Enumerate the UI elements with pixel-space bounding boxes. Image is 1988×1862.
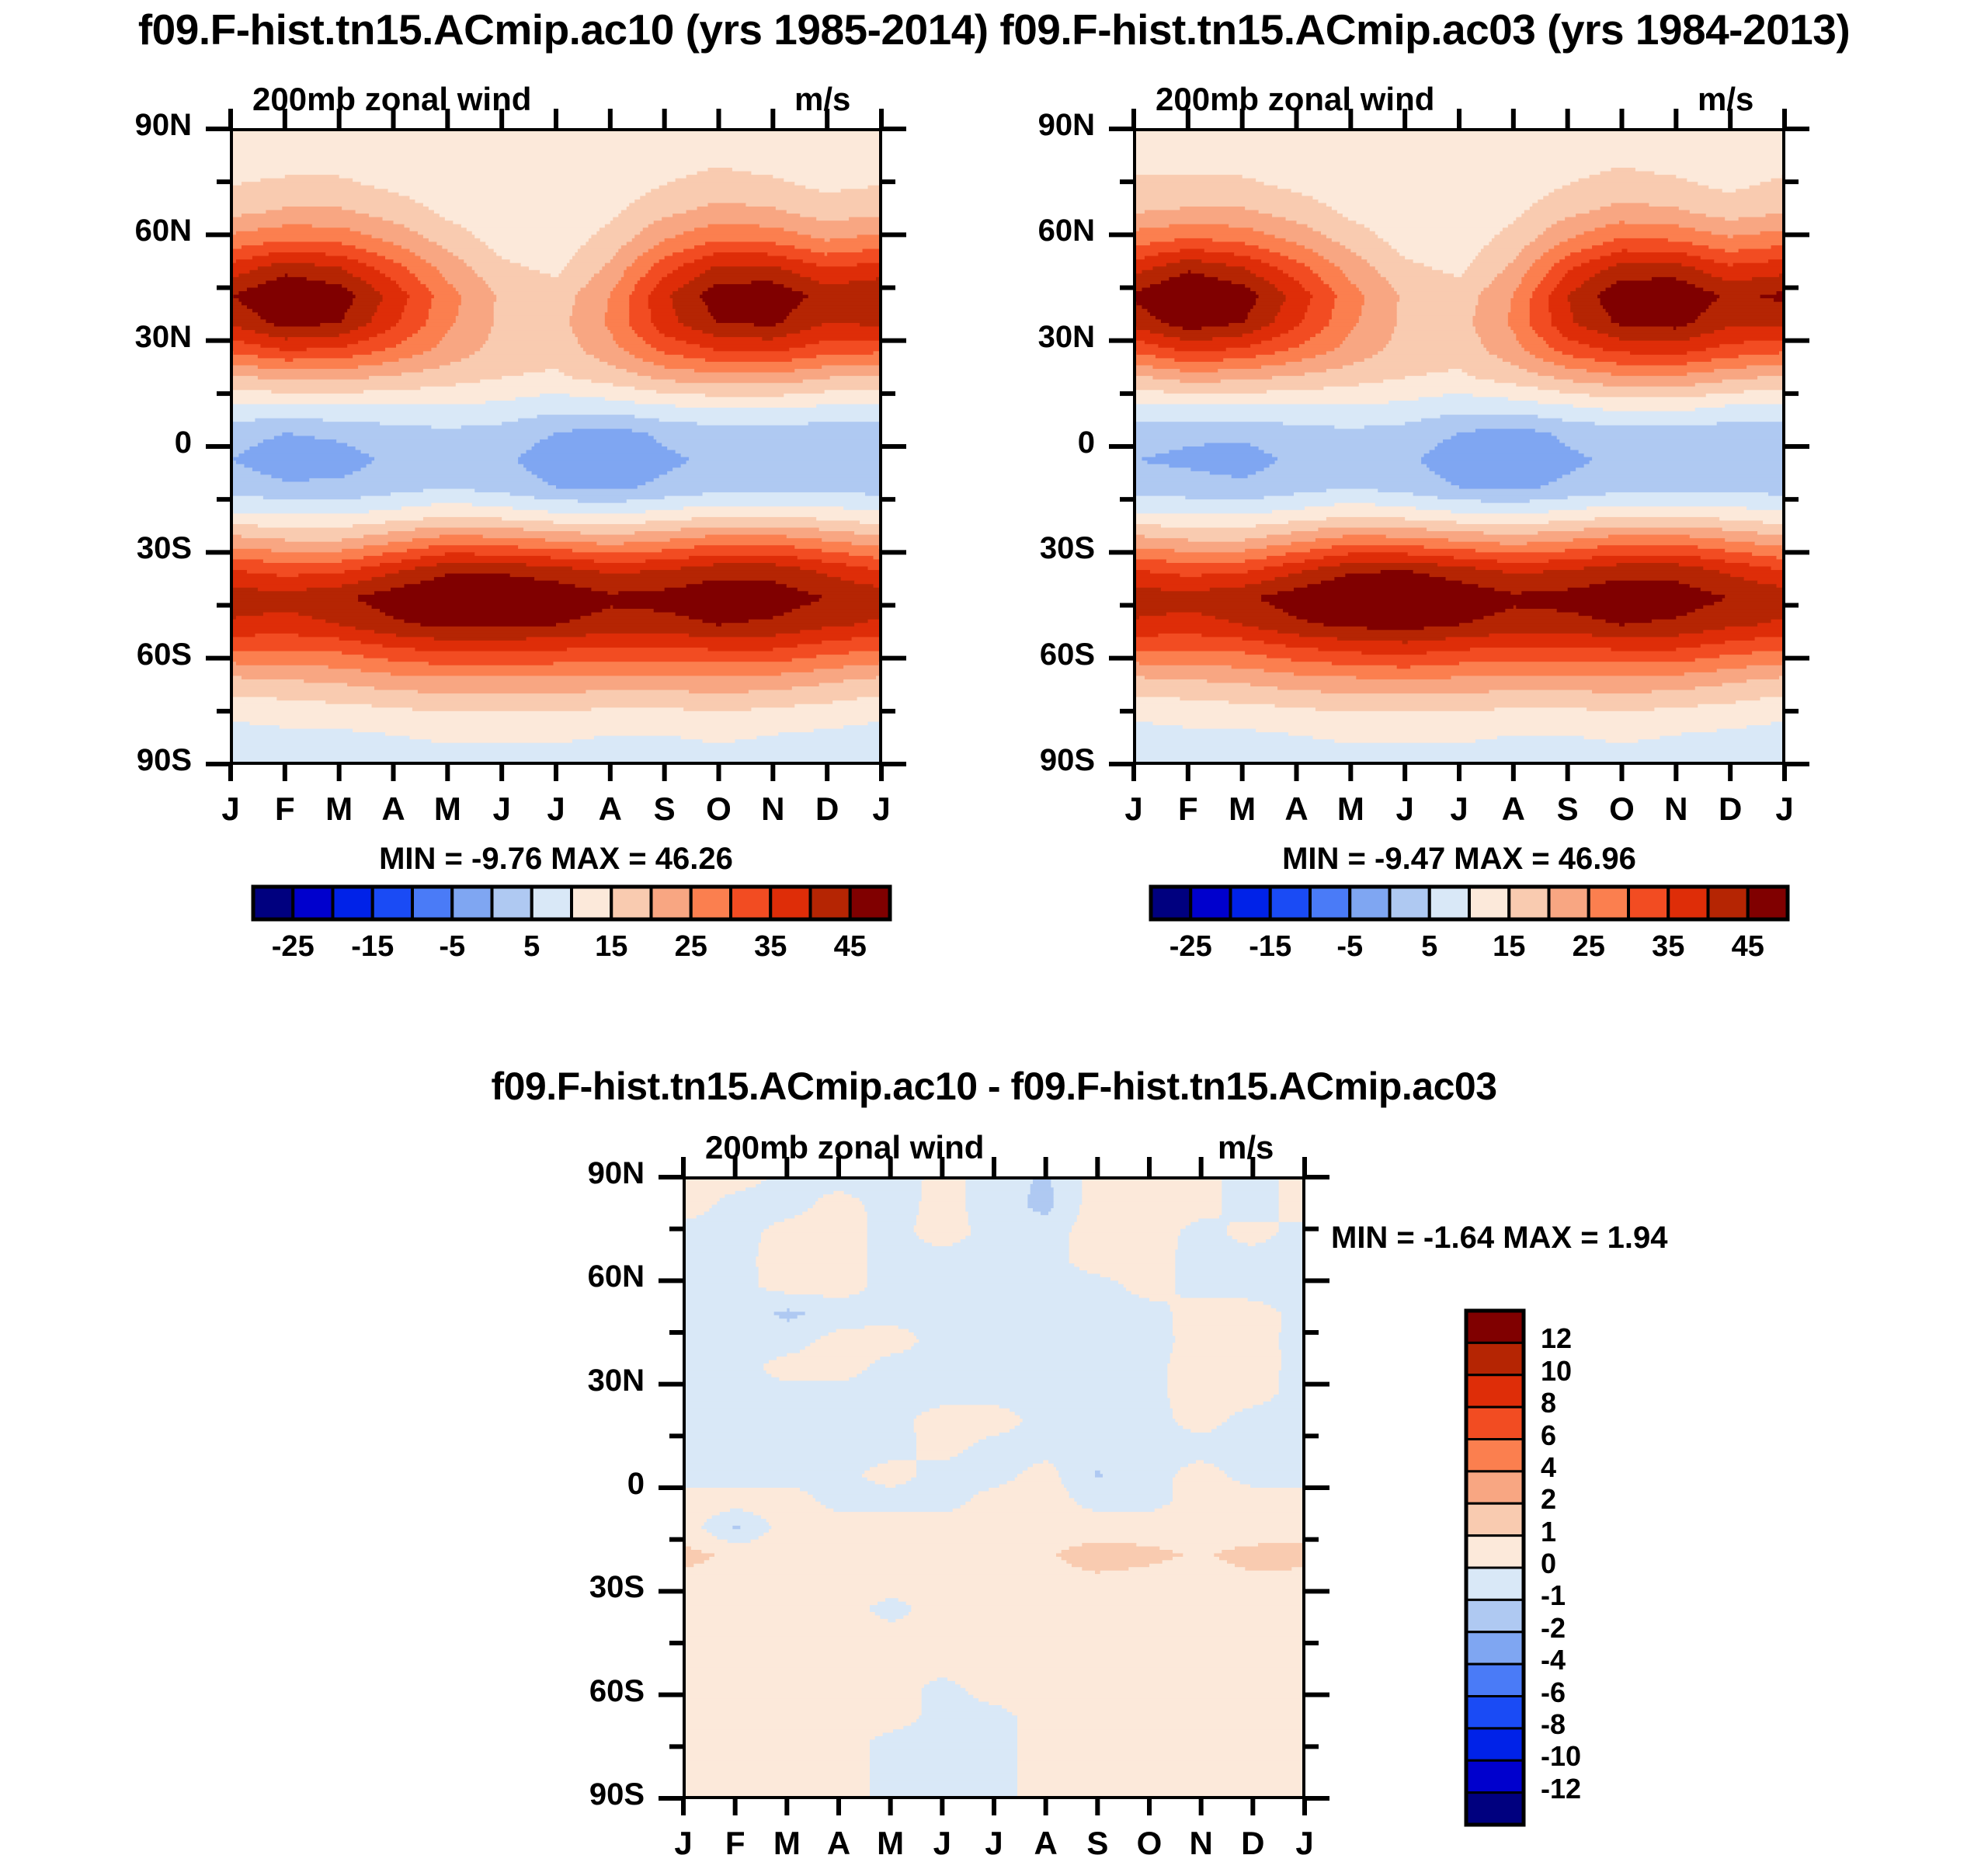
x-axis-tick-label: M [867,1825,914,1862]
colorbar-tick-label: 4 [1541,1451,1556,1484]
y-axis-tick-label: 30S [528,1570,645,1605]
colorbar-tick-label: -6 [1541,1676,1566,1709]
y-axis-tick-label: 90N [528,1156,645,1191]
colorbar-tick-label: -1 [1541,1579,1566,1612]
x-axis-tick-label: J [971,1825,1017,1862]
x-axis-tick-label: J [919,1825,965,1862]
x-axis-tick-label: J [660,1825,707,1862]
colorbar-tick-label: 12 [1541,1322,1572,1355]
x-axis-tick-label: A [1023,1825,1069,1862]
colorbar-tick-label: -12 [1541,1773,1581,1805]
y-axis-tick-label: 60S [528,1674,645,1709]
x-axis-tick-label: D [1229,1825,1276,1862]
colorbar-tick-label: -4 [1541,1644,1566,1676]
x-axis-tick-label: S [1074,1825,1121,1862]
x-axis-tick-label: M [763,1825,810,1862]
colorbar-tick-label: -8 [1541,1708,1566,1741]
y-axis-tick-label: 90S [528,1777,645,1812]
panel-minmax-label: MIN = -1.64 MAX = 1.94 [1331,1221,1668,1256]
colorbar-tick-label: 8 [1541,1387,1556,1419]
colorbar-tick-label: -10 [1541,1740,1581,1773]
colorbar-tick-label: -2 [1541,1612,1566,1645]
x-axis-tick-label: F [712,1825,759,1862]
colorbar-vertical[interactable] [1463,1308,1527,1828]
x-axis-tick-label: N [1178,1825,1225,1862]
colorbar-tick-label: 2 [1541,1483,1556,1516]
colorbar-tick-label: 1 [1541,1516,1556,1548]
colorbar-tick-label: 0 [1541,1548,1556,1580]
x-axis-tick-label: J [1281,1825,1328,1862]
panel-diff: 200mb zonal windm/s90N60N30N030S60S90SJF… [0,0,1988,1861]
y-axis-tick-label: 0 [528,1467,645,1502]
x-axis-tick-label: A [815,1825,862,1862]
figure-canvas: f09.F-hist.tn15.ACmip.ac10 (yrs 1985-201… [0,0,1988,1861]
y-axis-tick-label: 60N [528,1259,645,1294]
y-axis-tick-label: 30N [528,1363,645,1398]
x-axis-tick-label: O [1126,1825,1173,1862]
colorbar-tick-label: 10 [1541,1355,1572,1388]
colorbar-tick-label: 6 [1541,1419,1556,1452]
